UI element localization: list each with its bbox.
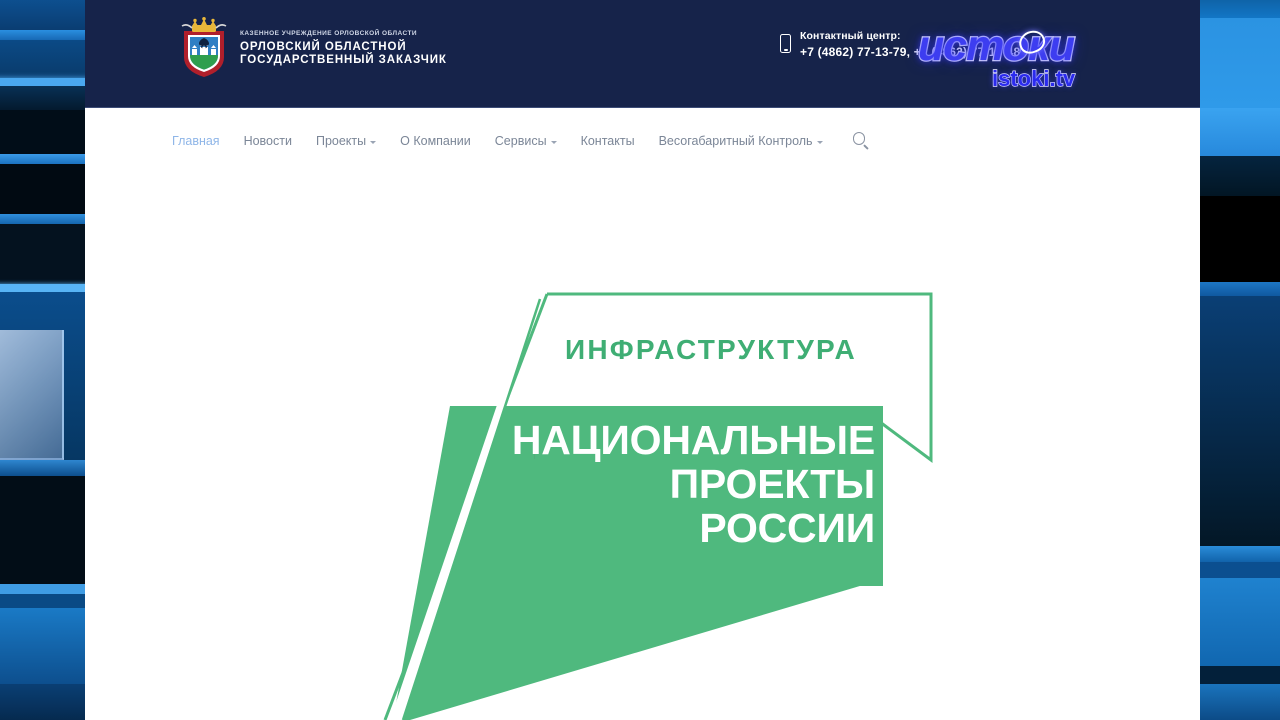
nav-item-proekty[interactable]: Проекты (316, 134, 376, 148)
hero-banner: ИНФРАСТРУКТУРА ист НАЦИОНАЛЬНЫЕ ПРОЕКТЫ … (85, 174, 1200, 720)
glass-panel-decor (0, 330, 64, 460)
nav-label: Весогабаритный Контроль (659, 134, 813, 148)
chevron-down-icon (817, 141, 823, 144)
brand-line-2: ГОСУДАРСТВЕННЫЙ ЗАКАЗЧИК (240, 54, 447, 68)
brand-kicker: КАЗЕННОЕ УЧРЕЖДЕНИЕ ОРЛОВСКОЙ ОБЛАСТИ (240, 30, 447, 38)
mobile-phone-icon (780, 34, 791, 53)
search-icon[interactable] (853, 132, 871, 150)
hero-infrastructure-label: ИНФРАСТРУКТУРА (565, 334, 857, 366)
nav-label: Сервисы (495, 134, 547, 148)
contact-center-block[interactable]: Контактный центр: +7 (4862) 77-13-79, +7… (780, 30, 1020, 59)
contact-center-label: Контактный центр: (800, 30, 1020, 42)
right-decor-bars (1200, 0, 1280, 720)
nav-item-o-kompanii[interactable]: О Компании (400, 134, 471, 148)
nav-item-servisy[interactable]: Сервисы (495, 134, 557, 148)
np-line-1: НАЦИОНАЛЬНЫЕ (512, 420, 875, 461)
left-decor-bars (0, 0, 90, 720)
nav-label: Новости (244, 134, 292, 148)
nav-item-vesogabaritny-kontrol[interactable]: Весогабаритный Контроль (659, 134, 823, 148)
np-line-3: РОССИИ (699, 508, 875, 549)
main-navigation[interactable]: Главная Новости Проекты О Компании Серви… (85, 108, 1200, 174)
nav-item-kontakty[interactable]: Контакты (581, 134, 635, 148)
nav-item-glavnaya[interactable]: Главная (172, 134, 220, 148)
national-projects-block: НАЦИОНАЛЬНЫЕ ПРОЕКТЫ РОССИИ (535, 406, 883, 586)
brand-line-1: ОРЛОВСКИЙ ОБЛАСТНОЙ (240, 41, 447, 55)
nav-label: Контакты (581, 134, 635, 148)
chevron-down-icon (551, 141, 557, 144)
np-line-2: ПРОЕКТЫ (670, 464, 875, 505)
chevron-down-icon (370, 141, 376, 144)
website-viewport: КАЗЕННОЕ УЧРЕЖДЕНИЕ ОРЛОВСКОЙ ОБЛАСТИ ОР… (85, 0, 1200, 720)
nav-label: Главная (172, 134, 220, 148)
site-brand[interactable]: КАЗЕННОЕ УЧРЕЖДЕНИЕ ОРЛОВСКОЙ ОБЛАСТИ ОР… (180, 17, 447, 79)
nav-item-novosti[interactable]: Новости (244, 134, 292, 148)
coat-of-arms-icon (180, 17, 228, 79)
nav-label: Проекты (316, 134, 366, 148)
site-header: КАЗЕННОЕ УЧРЕЖДЕНИЕ ОРЛОВСКОЙ ОБЛАСТИ ОР… (85, 0, 1200, 108)
contact-phone-numbers[interactable]: +7 (4862) 77-13-79, +7 (4862) 77-13-48 (800, 45, 1020, 59)
nav-label: О Компании (400, 134, 471, 148)
